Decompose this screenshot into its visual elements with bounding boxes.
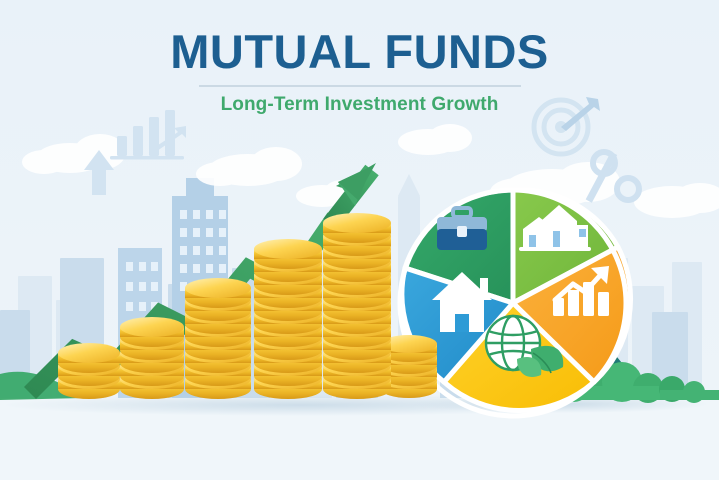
coin-stack [120,317,184,399]
coin-stack [58,343,120,399]
coin-stacks [0,0,719,480]
coin [58,343,120,373]
coin [254,239,322,269]
coin-stack [254,239,322,399]
coin [323,213,391,243]
infographic-canvas: MUTUAL FUNDS Long-Term Investment Growth [0,0,719,480]
coin [185,278,251,308]
coin-stack [185,278,251,399]
coin [120,317,184,347]
coin-stack [323,213,391,399]
